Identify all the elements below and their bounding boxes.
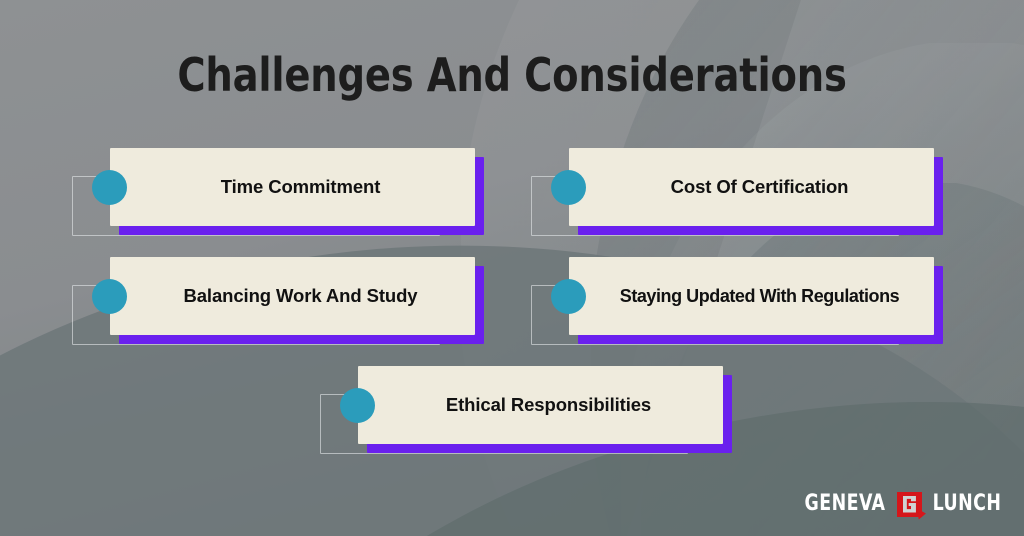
card-label: Balancing Work And Study (183, 285, 417, 307)
card-body[interactable]: Cost Of Certification (569, 148, 934, 226)
logo-g-mark-icon (897, 492, 922, 517)
card-staying-updated-with-regulations[interactable]: Staying Updated With Regulations (569, 257, 943, 353)
slide-canvas: Challenges And Considerations Time Commi… (0, 0, 1024, 536)
card-label: Cost Of Certification (671, 176, 849, 198)
card-body[interactable]: Ethical Responsibilities (358, 366, 723, 444)
card-ethical-responsibilities[interactable]: Ethical Responsibilities (358, 366, 732, 462)
bullet-circle-icon (340, 388, 375, 423)
bullet-circle-icon (92, 170, 127, 205)
bullet-circle-icon (92, 279, 127, 314)
bullet-circle-icon (551, 279, 586, 314)
card-label: Ethical Responsibilities (446, 394, 651, 416)
page-title: Challenges And Considerations (36, 46, 988, 104)
card-balancing-work-and-study[interactable]: Balancing Work And Study (110, 257, 484, 353)
card-body[interactable]: Balancing Work And Study (110, 257, 475, 335)
card-body[interactable]: Time Commitment (110, 148, 475, 226)
logo-word-lunch: LUNCH (933, 492, 1002, 516)
card-label: Time Commitment (221, 176, 381, 198)
logo-word-geneva: GENEVA (804, 492, 885, 516)
bullet-circle-icon (551, 170, 586, 205)
card-time-commitment[interactable]: Time Commitment (110, 148, 484, 244)
card-cost-of-certification[interactable]: Cost Of Certification (569, 148, 943, 244)
card-body[interactable]: Staying Updated With Regulations (569, 257, 934, 335)
brand-logo: GENEVA LUNCH (799, 490, 1006, 518)
card-label: Staying Updated With Regulations (620, 285, 899, 307)
